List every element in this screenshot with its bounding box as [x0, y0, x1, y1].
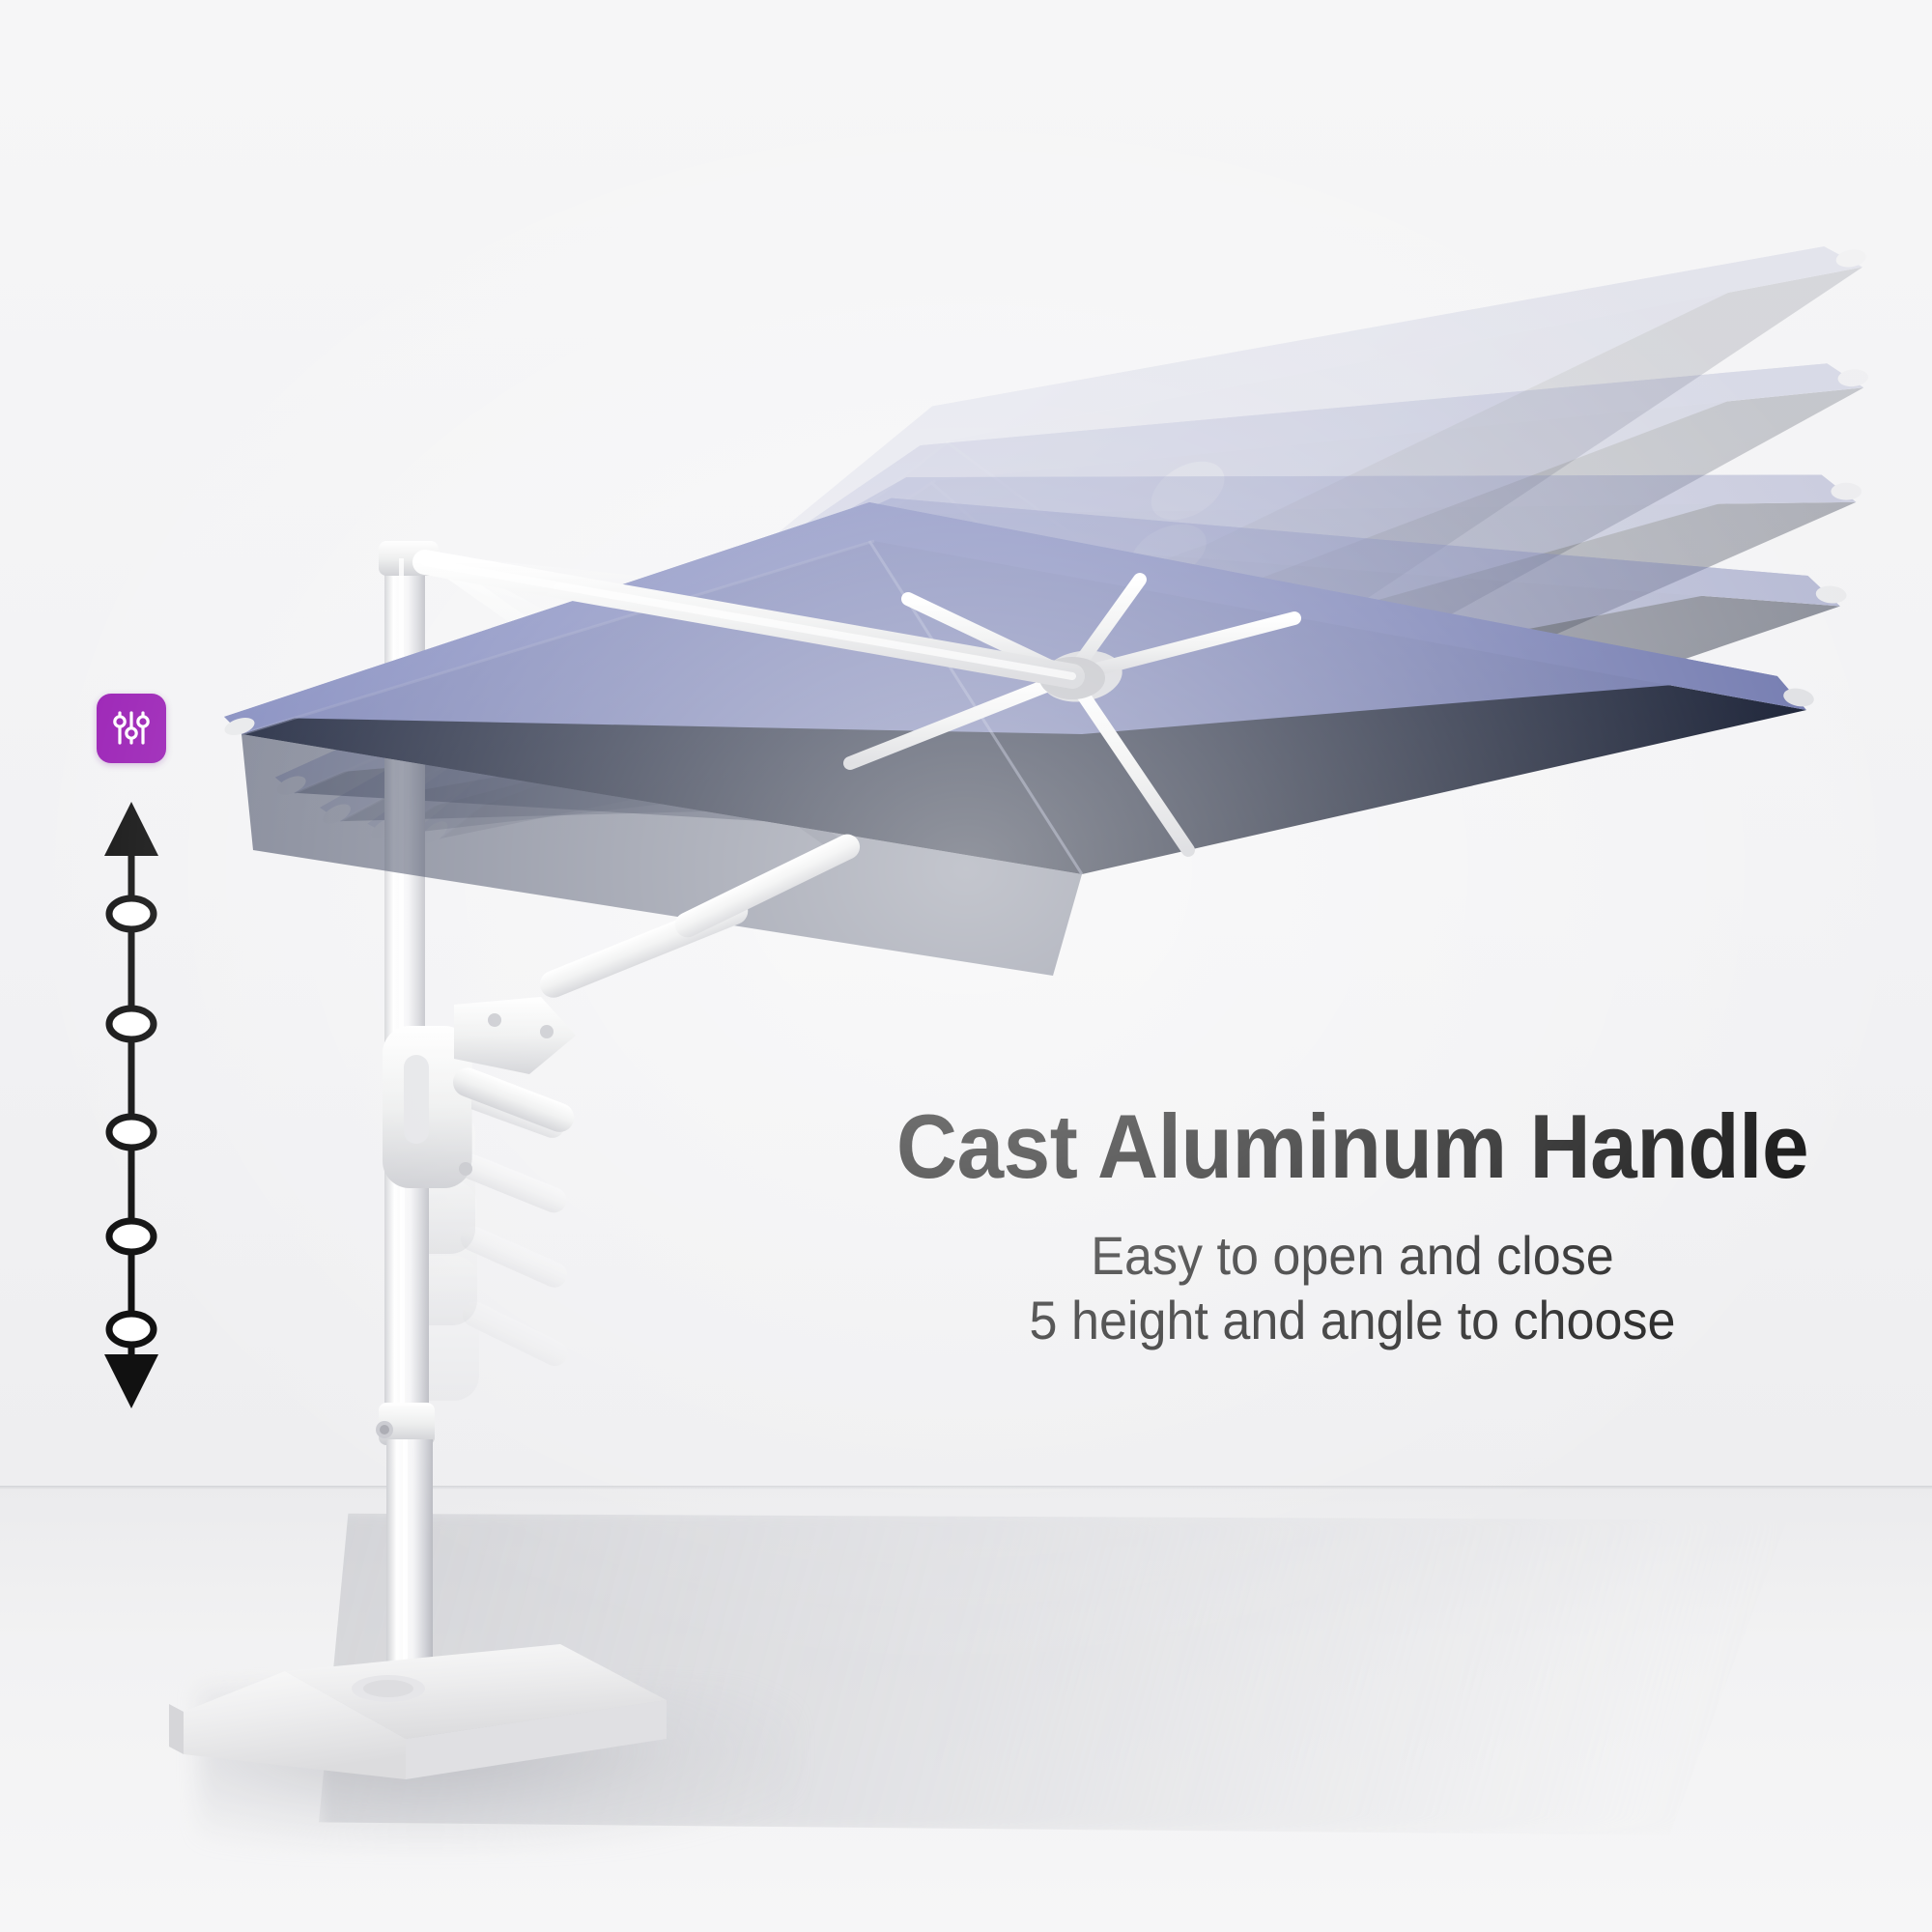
product-feature-image: Cast Aluminum Handle Easy to open and cl… [0, 0, 1932, 1932]
feature-subtitle-line-2: 5 height and angle to choose [885, 1289, 1819, 1351]
sliders-adjust-icon [111, 708, 152, 749]
arrow-down-icon [104, 1354, 158, 1408]
umbrella-base [169, 1644, 667, 1779]
adjust-badge[interactable] [97, 694, 166, 763]
arrow-up-icon [104, 802, 158, 856]
height-adjust-scale [89, 800, 174, 1410]
umbrella-illustration [0, 0, 1932, 1932]
feature-headline: Cast Aluminum Handle [885, 1100, 1819, 1193]
feature-subtitle-line-1: Easy to open and close [885, 1224, 1819, 1287]
